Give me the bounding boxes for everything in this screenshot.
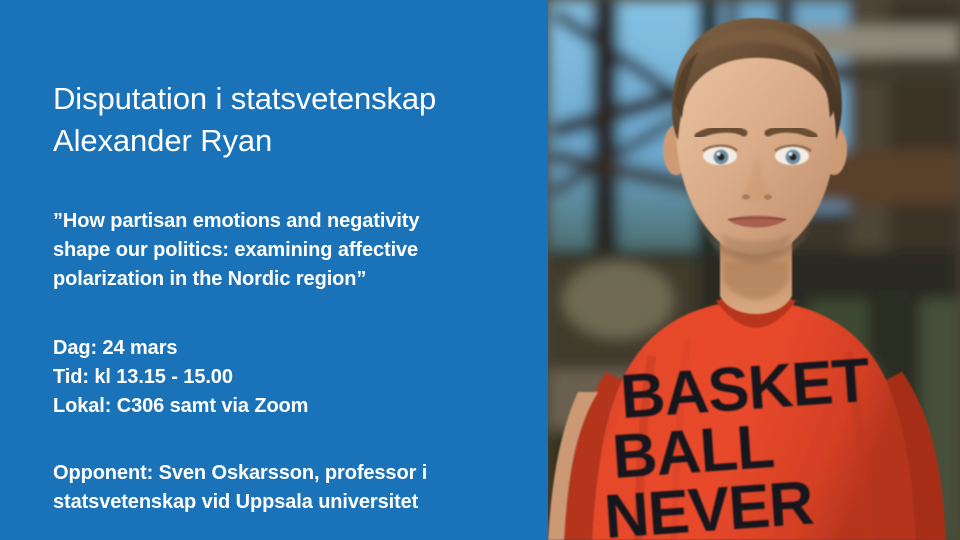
event-details: Dag: 24 mars Tid: kl 13.15 - 15.00 Lokal… xyxy=(53,334,308,421)
title-line-2: Alexander Ryan xyxy=(53,120,436,162)
opponent-line-2: statsvetenskap vid Uppsala universitet xyxy=(53,488,513,517)
event-poster: Disputation i statsvetenskap Alexander R… xyxy=(0,0,960,540)
opponent-line-1: Opponent: Sven Oskarsson, professor i xyxy=(53,459,513,488)
opponent-info: Opponent: Sven Oskarsson, professor i st… xyxy=(53,459,513,517)
event-time: Tid: kl 13.15 - 15.00 xyxy=(53,363,308,392)
portrait-photo: BASKET BALL NEVER xyxy=(548,0,960,540)
thesis-quote-line-2: shape our politics: examining affective xyxy=(53,236,523,265)
poster-title: Disputation i statsvetenskap Alexander R… xyxy=(53,78,436,162)
portrait-photo-graphic: BASKET BALL NEVER xyxy=(548,0,960,540)
thesis-quote-line-3: polarization in the Nordic region” xyxy=(53,265,523,294)
thesis-quote-line-1: ”How partisan emotions and negativity xyxy=(53,207,523,236)
thesis-title-quote: ”How partisan emotions and negativity sh… xyxy=(53,207,523,294)
text-panel: Disputation i statsvetenskap Alexander R… xyxy=(0,0,548,540)
event-venue: Lokal: C306 samt via Zoom xyxy=(53,392,308,421)
event-day: Dag: 24 mars xyxy=(53,334,308,363)
title-line-1: Disputation i statsvetenskap xyxy=(53,78,436,120)
